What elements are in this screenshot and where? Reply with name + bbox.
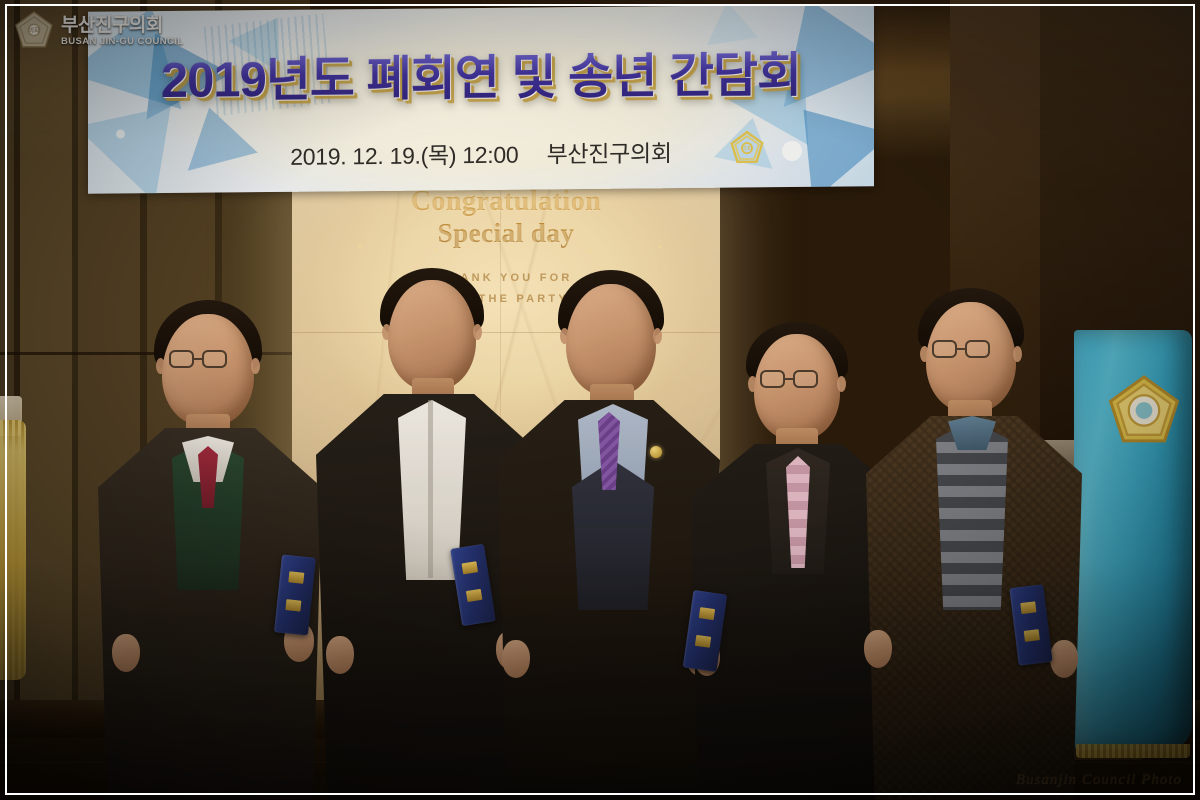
person-4-glasses (760, 370, 838, 392)
logo-korean-name: 부산진구의회 (61, 16, 184, 35)
person-3-head (566, 284, 656, 396)
person-2-shirt-placket (428, 400, 433, 578)
person-4-ear-right (837, 376, 846, 392)
logo-english-name: BUSAN JIN-GU COUNCIL (61, 37, 184, 47)
person-1-hand-left (112, 634, 140, 672)
person-4-glasses-bridge (785, 378, 793, 380)
person-3-ear-left (560, 328, 569, 344)
banner-date: 2019. 12. 19.(목) 12:00 (290, 142, 518, 170)
person-5-ear-left (920, 346, 929, 362)
person-1-lens-left (169, 350, 194, 368)
person-3-ear-right (653, 328, 662, 344)
person-3 (498, 270, 722, 800)
fairy-lights (350, 232, 670, 258)
person-1-glasses-bridge (194, 358, 202, 360)
plaque-clasp-lower (285, 599, 301, 612)
council-emblem-icon: 의회 (14, 10, 54, 50)
person-5-hand-left (864, 630, 892, 668)
banner-council-emblem-icon: 의회 (730, 130, 764, 164)
left-flag-gold-fringe (0, 420, 26, 680)
person-1-ear-right (251, 358, 260, 374)
flag-emblem-icon (1106, 374, 1182, 450)
person-5-glasses (932, 340, 1010, 362)
person-3-hand-left (502, 640, 530, 678)
ceremonial-flag (1074, 330, 1192, 750)
event-photograph: Congratulation Special day THANK YOU FOR… (0, 0, 1200, 800)
person-4-lens-right (793, 370, 818, 388)
banner-title: 2019년도 폐회연 및 송년 간담회 (88, 50, 874, 107)
person-5-hand-right (1050, 640, 1078, 678)
plaque-clasp-lower (1024, 629, 1040, 642)
person-2-ear-left (382, 324, 391, 340)
banner-triangle-10 (701, 4, 758, 45)
person-5 (866, 288, 1084, 800)
person-2-hand-left (326, 636, 354, 674)
plaque-clasp-lower (695, 635, 711, 648)
logo-watermark: 의회 부산진구의회 BUSAN JIN-GU COUNCIL (14, 6, 214, 54)
plaque-clasp-lower (466, 589, 483, 602)
person-5-lens-right (965, 340, 990, 358)
photo-credit-watermark: Busanjin Council Photo (1016, 771, 1182, 788)
person-1-glasses (169, 350, 249, 372)
person-2-head (388, 280, 476, 390)
person-5-lens-left (932, 340, 957, 358)
plaque-clasp-upper (288, 571, 304, 584)
person-4-ear-left (748, 376, 757, 392)
logo-text-block: 부산진구의회 BUSAN JIN-GU COUNCIL (61, 14, 184, 47)
plaque-clasp-upper (1020, 601, 1036, 614)
person-5-glasses-bridge (957, 348, 965, 350)
person-1-ear-left (156, 358, 165, 374)
banner-organization: 부산진구의회 (547, 140, 672, 167)
banner-dot-2 (116, 129, 125, 138)
congratulation-line-1: Congratulation (411, 186, 602, 217)
person-1-lens-right (202, 350, 227, 368)
person-4-lens-left (760, 370, 785, 388)
person-5-ear-right (1013, 346, 1022, 362)
plaque-clasp-upper (699, 607, 715, 620)
person-1 (92, 300, 327, 800)
person-2-ear-right (473, 324, 482, 340)
plaque-clasp-upper (462, 561, 479, 574)
person-3-lapel-pin (650, 446, 662, 458)
